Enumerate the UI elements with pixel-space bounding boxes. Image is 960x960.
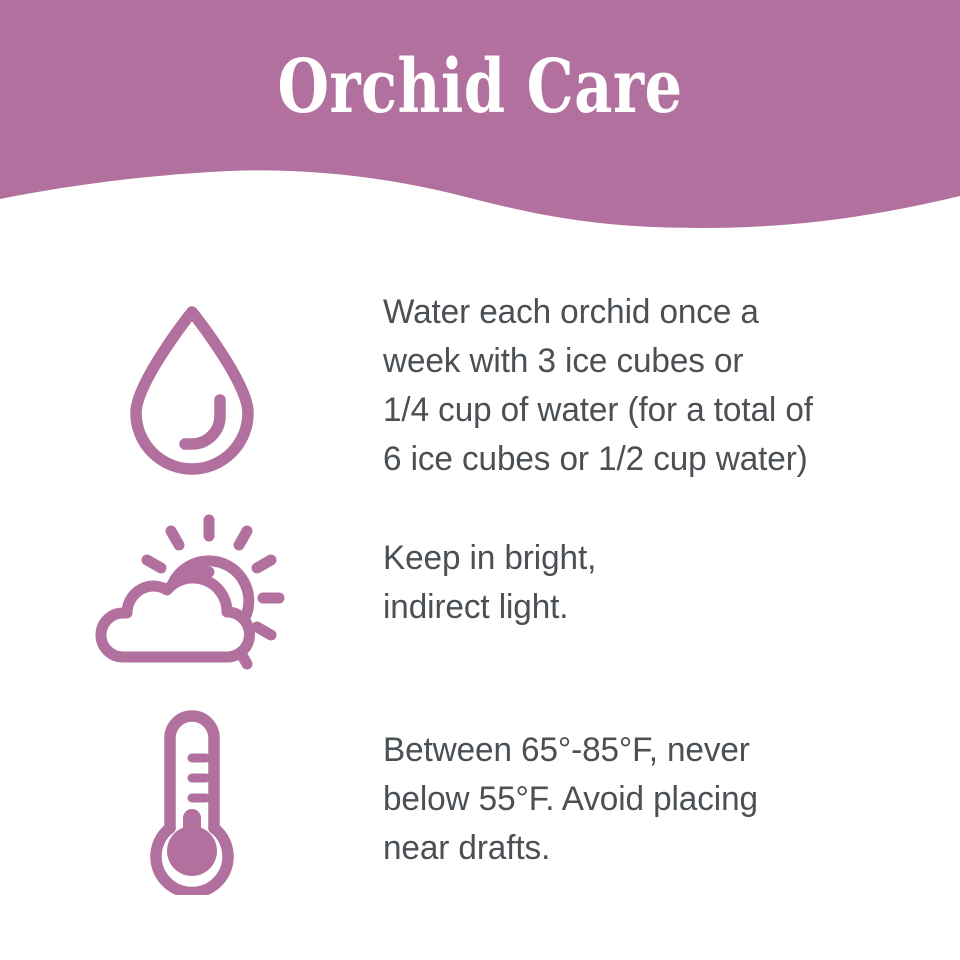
care-text-water: Water each orchid once a week with 3 ice… [383, 288, 905, 484]
care-row-temperature-text-cell: Between 65°-85°F, never below 55°F. Avoi… [383, 710, 960, 873]
sun-behind-cloud-icon [87, 508, 297, 673]
care-row-water-icon-cell [0, 288, 383, 486]
care-text-light: Keep in bright, indirect light. [383, 534, 905, 632]
header-banner: Orchid Care [0, 0, 960, 240]
care-row-light: Keep in bright, indirect light. [0, 508, 960, 668]
orchid-care-infographic: Orchid Care Water each orchid once a wee… [0, 0, 960, 960]
care-text-temperature: Between 65°-85°F, never below 55°F. Avoi… [383, 726, 905, 873]
thermometer-mercury-bulb [167, 826, 217, 876]
page-title: Orchid Care [96, 44, 864, 130]
care-row-light-icon-cell [0, 508, 383, 673]
care-items-list: Water each orchid once a week with 3 ice… [0, 240, 960, 960]
thermometer-icon [128, 710, 256, 895]
care-row-water: Water each orchid once a week with 3 ice… [0, 288, 960, 488]
care-row-temperature: Between 65°-85°F, never below 55°F. Avoi… [0, 710, 960, 900]
care-row-water-text-cell: Water each orchid once a week with 3 ice… [383, 288, 960, 484]
care-row-temperature-icon-cell [0, 710, 383, 895]
care-row-light-text-cell: Keep in bright, indirect light. [383, 508, 960, 632]
water-drop-icon [117, 296, 267, 486]
